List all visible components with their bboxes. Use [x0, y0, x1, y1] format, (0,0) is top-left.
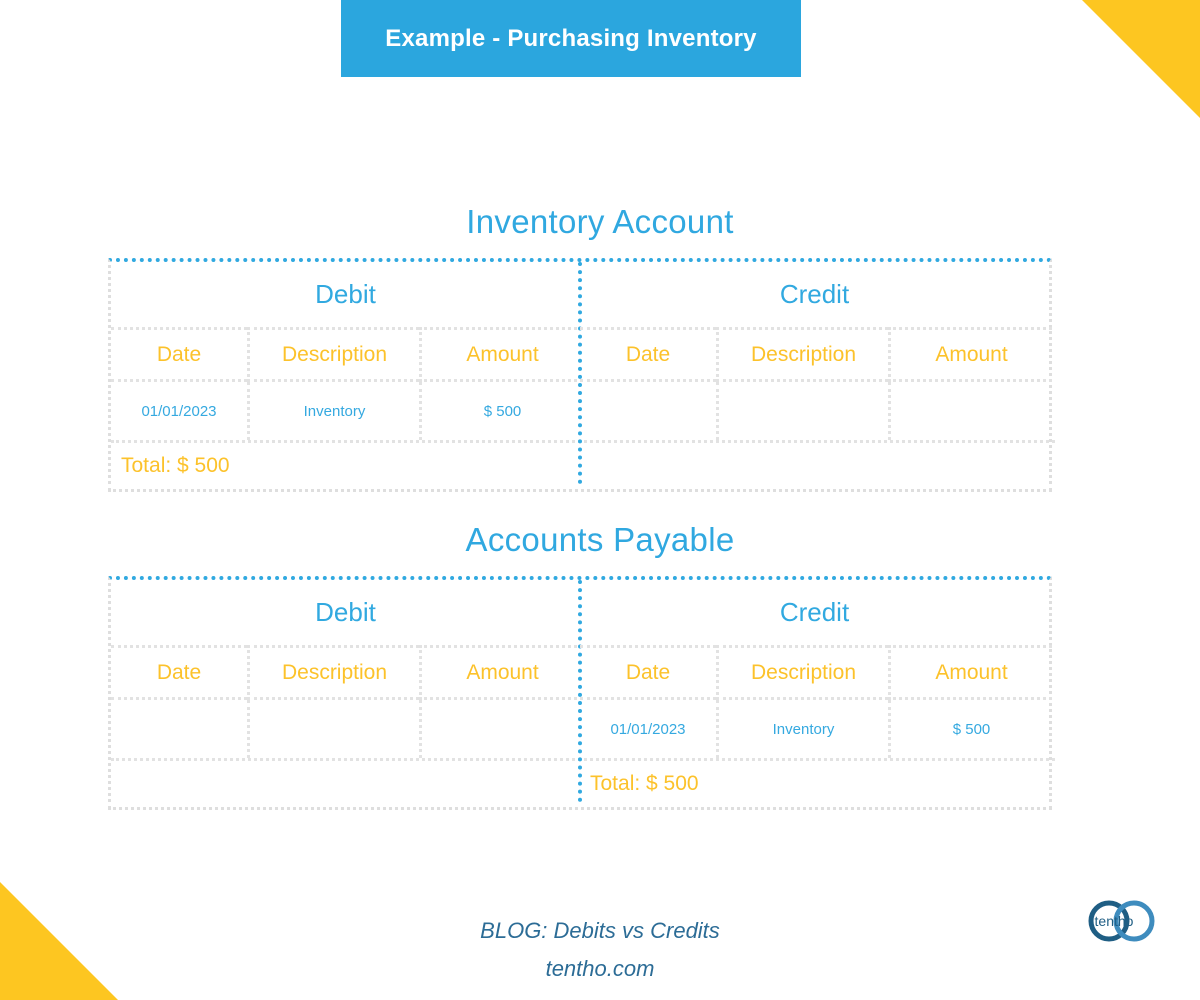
- entry-text-debit-description: Inventory: [304, 403, 366, 420]
- entry-text-credit-amount: $ 500: [953, 721, 991, 738]
- entry-row: 01/01/2023 Inventory $ 500: [111, 382, 1049, 440]
- credit-side-heading: Credit: [580, 262, 1049, 327]
- entry-cell-credit-description: Inventory: [716, 700, 888, 758]
- header-cell-credit-description: Description: [716, 327, 888, 382]
- infinity-circles-icon: tentho: [1086, 899, 1158, 943]
- credit-label: Credit: [780, 597, 849, 628]
- header-text-credit-amount: Amount: [935, 343, 1007, 367]
- header-banner: Example - Purchasing Inventory: [341, 0, 801, 77]
- footer-blog-line: BLOG: Debits vs Credits: [0, 912, 1200, 950]
- header-text-credit-amount: Amount: [935, 661, 1007, 685]
- entry-cell-debit-amount: [419, 700, 583, 758]
- debit-side-heading: Debit: [111, 580, 580, 645]
- header-text-debit-amount: Amount: [466, 661, 538, 685]
- header-cell-debit-amount: Amount: [419, 645, 583, 700]
- entry-text-debit-amount: $ 500: [484, 403, 522, 420]
- header-text-debit-description: Description: [282, 343, 387, 367]
- entry-cell-credit-amount: $ 500: [888, 700, 1052, 758]
- credit-entry-cells: 01/01/2023 Inventory $ 500: [580, 700, 1049, 758]
- corner-triangle-top-right: [1082, 0, 1200, 118]
- logo-wordmark: tentho: [1095, 913, 1134, 929]
- header-cell-credit-date: Date: [580, 327, 716, 382]
- header-text-credit-description: Description: [751, 661, 856, 685]
- header-cell-credit-amount: Amount: [888, 327, 1052, 382]
- account-title-inventory: Inventory Account: [0, 203, 1200, 241]
- t-account-accounts-payable: Debit Credit Date Description Amount Dat…: [108, 576, 1052, 810]
- credit-total-cell: [580, 443, 1049, 489]
- debit-total-text: Total: $ 500: [111, 454, 230, 478]
- entry-cell-debit-description: [247, 700, 419, 758]
- entry-cell-debit-description: Inventory: [247, 382, 419, 440]
- debit-column-headers: Date Description Amount: [111, 327, 580, 382]
- total-row: Total: $ 500: [111, 761, 1049, 807]
- entry-cell-debit-amount: $ 500: [419, 382, 583, 440]
- column-header-row: Date Description Amount Date Description…: [111, 327, 1049, 382]
- header-text-debit-date: Date: [157, 343, 201, 367]
- debit-label: Debit: [315, 597, 376, 628]
- credit-side-heading: Credit: [580, 580, 1049, 645]
- header-text-credit-date: Date: [626, 343, 670, 367]
- header-cell-debit-amount: Amount: [419, 327, 583, 382]
- credit-column-headers: Date Description Amount: [580, 327, 1049, 382]
- header-text-credit-date: Date: [626, 661, 670, 685]
- debit-label: Debit: [315, 279, 376, 310]
- entry-cell-debit-date: [111, 700, 247, 758]
- header-cell-debit-date: Date: [111, 645, 247, 700]
- debit-side-heading: Debit: [111, 262, 580, 327]
- account-title-accounts-payable: Accounts Payable: [0, 521, 1200, 559]
- header-text-credit-description: Description: [751, 343, 856, 367]
- entry-text-credit-description: Inventory: [773, 721, 835, 738]
- credit-column-headers: Date Description Amount: [580, 645, 1049, 700]
- debit-column-headers: Date Description Amount: [111, 645, 580, 700]
- header-cell-debit-description: Description: [247, 327, 419, 382]
- entry-row: 01/01/2023 Inventory $ 500: [111, 700, 1049, 758]
- credit-label: Credit: [780, 279, 849, 310]
- t-account-inventory: Debit Credit Date Description Amount Dat…: [108, 258, 1052, 492]
- header-text-debit-description: Description: [282, 661, 387, 685]
- column-header-row: Date Description Amount Date Description…: [111, 645, 1049, 700]
- debit-credit-heading-row: Debit Credit: [111, 262, 1049, 327]
- debit-total-cell: [111, 761, 580, 807]
- entry-cell-credit-date: [580, 382, 716, 440]
- tentho-logo: tentho: [1086, 899, 1158, 943]
- header-cell-debit-description: Description: [247, 645, 419, 700]
- banner-title: Example - Purchasing Inventory: [385, 25, 756, 53]
- debit-entry-cells: [111, 700, 580, 758]
- credit-total-text: Total: $ 500: [580, 772, 699, 796]
- header-text-debit-date: Date: [157, 661, 201, 685]
- header-cell-debit-date: Date: [111, 327, 247, 382]
- credit-total-cell: Total: $ 500: [580, 761, 1049, 807]
- debit-entry-cells: 01/01/2023 Inventory $ 500: [111, 382, 580, 440]
- header-cell-credit-amount: Amount: [888, 645, 1052, 700]
- footer-site-line: tentho.com: [0, 950, 1200, 988]
- entry-text-debit-date: 01/01/2023: [141, 403, 216, 420]
- entry-cell-credit-description: [716, 382, 888, 440]
- entry-cell-debit-date: 01/01/2023: [111, 382, 247, 440]
- entry-text-credit-date: 01/01/2023: [610, 721, 685, 738]
- header-text-debit-amount: Amount: [466, 343, 538, 367]
- header-cell-credit-description: Description: [716, 645, 888, 700]
- credit-entry-cells: [580, 382, 1049, 440]
- entry-cell-credit-amount: [888, 382, 1052, 440]
- footer: BLOG: Debits vs Credits tentho.com: [0, 912, 1200, 988]
- header-cell-credit-date: Date: [580, 645, 716, 700]
- total-row: Total: $ 500: [111, 443, 1049, 489]
- debit-credit-heading-row: Debit Credit: [111, 580, 1049, 645]
- debit-total-cell: Total: $ 500: [111, 443, 580, 489]
- entry-cell-credit-date: 01/01/2023: [580, 700, 716, 758]
